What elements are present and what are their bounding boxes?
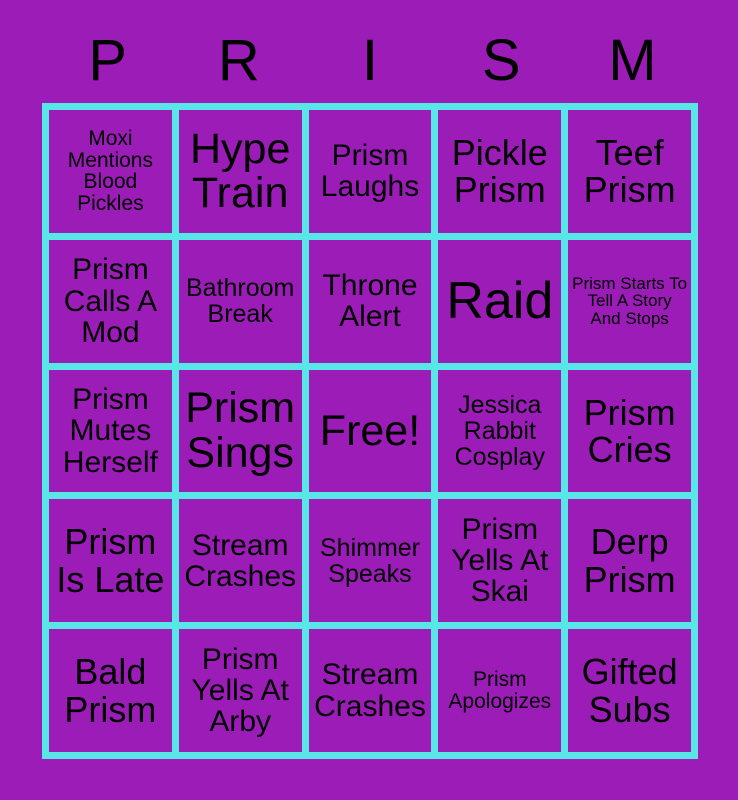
bingo-cell[interactable]: Prism Apologizes <box>438 629 561 752</box>
header-letter-i: I <box>362 32 378 90</box>
bingo-cell[interactable]: Prism Mutes Herself <box>49 370 172 493</box>
bingo-cell[interactable]: Prism Yells At Skai <box>438 499 561 622</box>
bingo-cell[interactable]: Stream Crashes <box>309 629 432 752</box>
bingo-cell[interactable]: Bathroom Break <box>179 240 302 363</box>
bingo-cell[interactable]: Hype Train <box>179 110 302 233</box>
bingo-cell[interactable]: Shimmer Speaks <box>309 499 432 622</box>
header-letter-r: R <box>218 32 260 90</box>
bingo-grid: Moxi Mentions Blood Pickles Hype Train P… <box>42 103 698 759</box>
bingo-cell[interactable]: Moxi Mentions Blood Pickles <box>49 110 172 233</box>
bingo-cell-free[interactable]: Free! <box>309 370 432 493</box>
bingo-cell[interactable]: Prism Laughs <box>309 110 432 233</box>
bingo-card: P R I S M Moxi Mentions Blood Pickles Hy… <box>0 0 738 800</box>
bingo-cell[interactable]: Pickle Prism <box>438 110 561 233</box>
bingo-header: P R I S M <box>42 22 698 100</box>
bingo-cell[interactable]: Throne Alert <box>309 240 432 363</box>
bingo-cell[interactable]: Teef Prism <box>568 110 691 233</box>
bingo-cell[interactable]: Prism Calls A Mod <box>49 240 172 363</box>
bingo-cell[interactable]: Raid <box>438 240 561 363</box>
header-letter-s: S <box>482 32 521 90</box>
bingo-cell[interactable]: Stream Crashes <box>179 499 302 622</box>
bingo-cell[interactable]: Prism Yells At Arby <box>179 629 302 752</box>
bingo-cell[interactable]: Jessica Rabbit Cosplay <box>438 370 561 493</box>
bingo-cell[interactable]: Prism Cries <box>568 370 691 493</box>
header-letter-p: P <box>88 32 127 90</box>
header-letter-m: M <box>608 32 656 90</box>
bingo-cell[interactable]: Bald Prism <box>49 629 172 752</box>
bingo-cell[interactable]: Derp Prism <box>568 499 691 622</box>
bingo-cell[interactable]: Prism Starts To Tell A Story And Stops <box>568 240 691 363</box>
bingo-cell[interactable]: Prism Is Late <box>49 499 172 622</box>
bingo-cell[interactable]: Gifted Subs <box>568 629 691 752</box>
bingo-cell[interactable]: Prism Sings <box>179 370 302 493</box>
